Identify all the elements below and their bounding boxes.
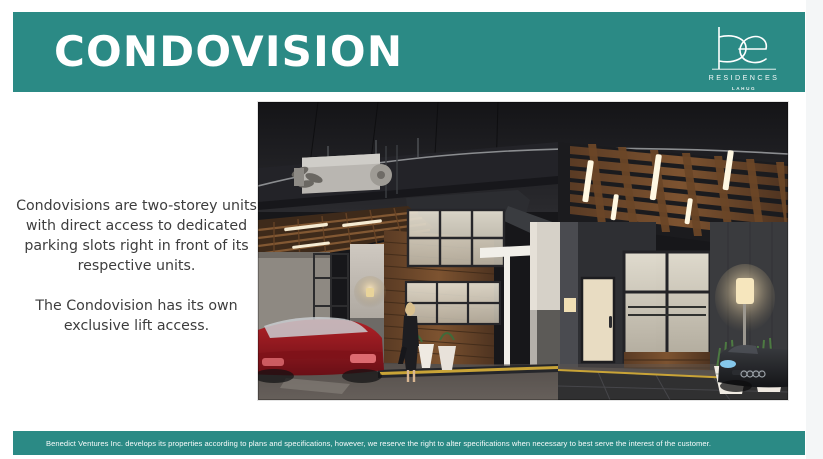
- logo-residences-text: RESIDENCES: [709, 73, 780, 82]
- description-block: Condovisions are two-storey units with d…: [14, 196, 259, 336]
- page-title: CONDOVISION: [54, 31, 403, 73]
- slide-canvas: CONDOVISION RESIDENCES LAHUG Condovision…: [0, 0, 810, 459]
- red-car-left: [258, 317, 384, 383]
- be-monogram-icon: [706, 24, 782, 72]
- description-paragraph-2: The Condovision has its own exclusive li…: [14, 296, 259, 336]
- logo-location-text: LAHUG: [732, 86, 756, 91]
- ceiling-equipment: [290, 154, 392, 194]
- page-margin-right: [806, 0, 823, 459]
- brand-logo: RESIDENCES LAHUG: [701, 24, 787, 98]
- condovision-render-image: [258, 102, 788, 400]
- description-paragraph-1: Condovisions are two-storey units with d…: [14, 196, 259, 277]
- footer-bar: Benedict Ventures Inc. develops its prop…: [13, 431, 805, 455]
- header-bar: CONDOVISION RESIDENCES LAHUG: [13, 12, 805, 92]
- render-illustration: [258, 102, 788, 400]
- footer-disclaimer: Benedict Ventures Inc. develops its prop…: [13, 439, 711, 448]
- black-car-right: [718, 345, 788, 392]
